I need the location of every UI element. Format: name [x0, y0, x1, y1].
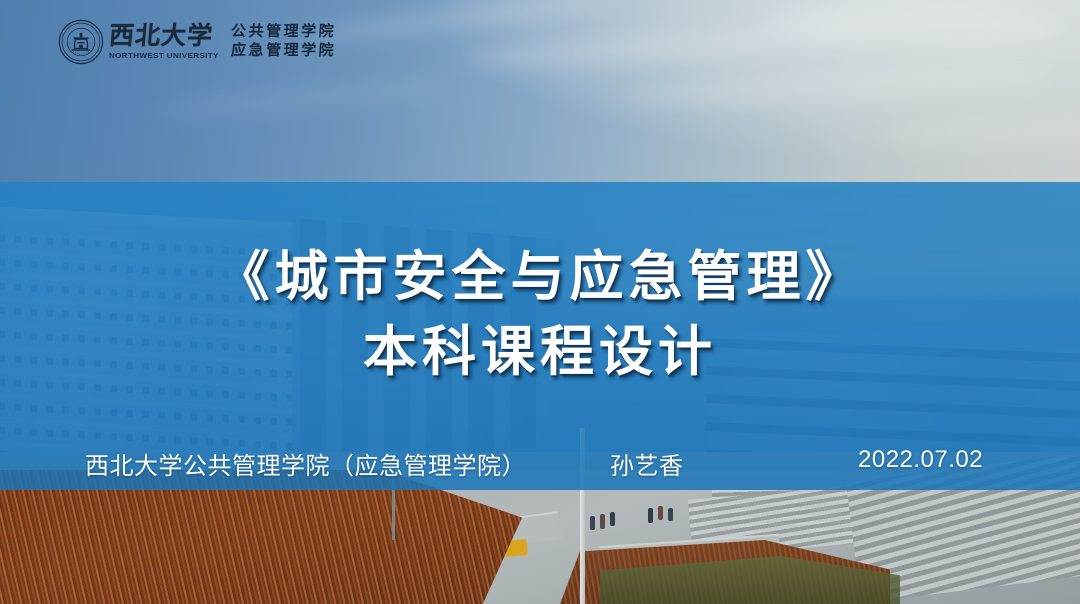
pedestrian	[668, 508, 673, 521]
presentation-slide: 西北大学 NORTHWEST UNIVERSITY 公共管理学院 应急管理学院 …	[0, 0, 1080, 604]
slide-title: 《城市安全与应急管理》 本科课程设计	[0, 240, 1080, 389]
cloud-wisp	[620, 61, 1051, 113]
pedestrian	[658, 506, 663, 520]
footer-date: 2022.07.02	[858, 446, 983, 474]
university-name-block: 西北大学 NORTHWEST UNIVERSITY	[109, 24, 219, 60]
pedestrian	[610, 512, 615, 526]
cloud-wisp	[150, 77, 450, 121]
cloud-wisp	[300, 0, 620, 47]
school-name-block: 公共管理学院 应急管理学院	[231, 25, 336, 59]
school-name-public-admin: 公共管理学院	[230, 25, 336, 40]
title-line-2: 本科课程设计	[0, 315, 1080, 390]
slide-footer: 西北大学公共管理学院（应急管理学院） 孙艺香 2022.07.02	[0, 446, 1080, 482]
footer-author: 孙艺香	[610, 446, 684, 481]
footer-organization: 西北大学公共管理学院（应急管理学院）	[85, 446, 526, 481]
pedestrian	[590, 516, 595, 530]
pedestrian	[648, 508, 653, 523]
cloud-wisp	[880, 113, 1080, 148]
university-name-en: NORTHWEST UNIVERSITY	[109, 52, 219, 59]
title-line-1: 《城市安全与应急管理》	[0, 240, 1080, 315]
pedestrian	[600, 514, 605, 529]
school-name-emergency-mgmt: 应急管理学院	[230, 44, 336, 59]
university-logo: 西北大学 NORTHWEST UNIVERSITY 公共管理学院 应急管理学院	[58, 16, 336, 68]
university-name-cn: 西北大学	[108, 24, 220, 49]
university-seal-icon	[58, 19, 104, 65]
